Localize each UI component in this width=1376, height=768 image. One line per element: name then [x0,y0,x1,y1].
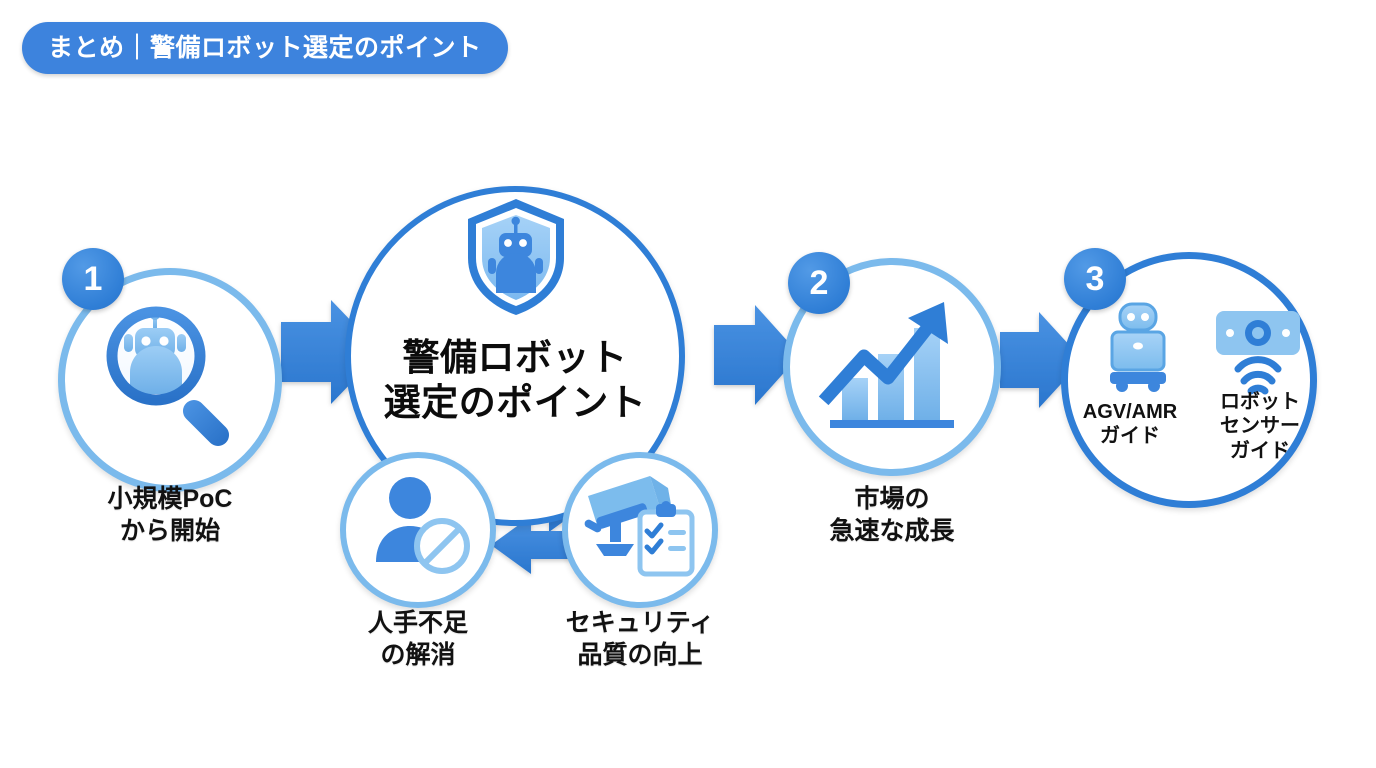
step-2-caption: 市場の 急速な成長 [772,484,1012,547]
benefit-shortage-caption: 人手不足 の解消 [338,608,498,671]
cctv-checklist-icon [580,466,704,586]
benefit-security-caption: セキュリティ 品質の向上 [550,608,730,671]
step-1-number: 1 [84,262,103,296]
slide-title-text: まとめ｜警備ロボット選定のポイント [48,36,482,61]
step-3-number: 3 [1086,262,1105,296]
hub-title: 警備ロボット 選定のポイント [355,335,675,425]
step-3-label-sensor: ロボット センサー ガイド [1198,390,1322,463]
slide-title-badge: まとめ｜警備ロボット選定のポイント [22,22,508,74]
slide-canvas: まとめ｜警備ロボット選定のポイント [0,0,1376,768]
magnifier-robot-icon [100,300,250,460]
agv-robot-icon [1098,300,1178,392]
step-3-label-agv: AGV/AMR ガイド [1068,400,1192,449]
person-prohibited-icon [366,470,478,582]
robot-sensor-icon [1210,305,1306,397]
shield-robot-icon [463,196,569,318]
step-2-number: 2 [810,266,829,300]
step-1-caption: 小規模PoC から開始 [40,484,300,547]
growth-chart-icon [820,296,968,438]
step-1-badge: 1 [62,248,124,310]
step-2-badge: 2 [788,252,850,314]
step-3-badge: 3 [1064,248,1126,310]
